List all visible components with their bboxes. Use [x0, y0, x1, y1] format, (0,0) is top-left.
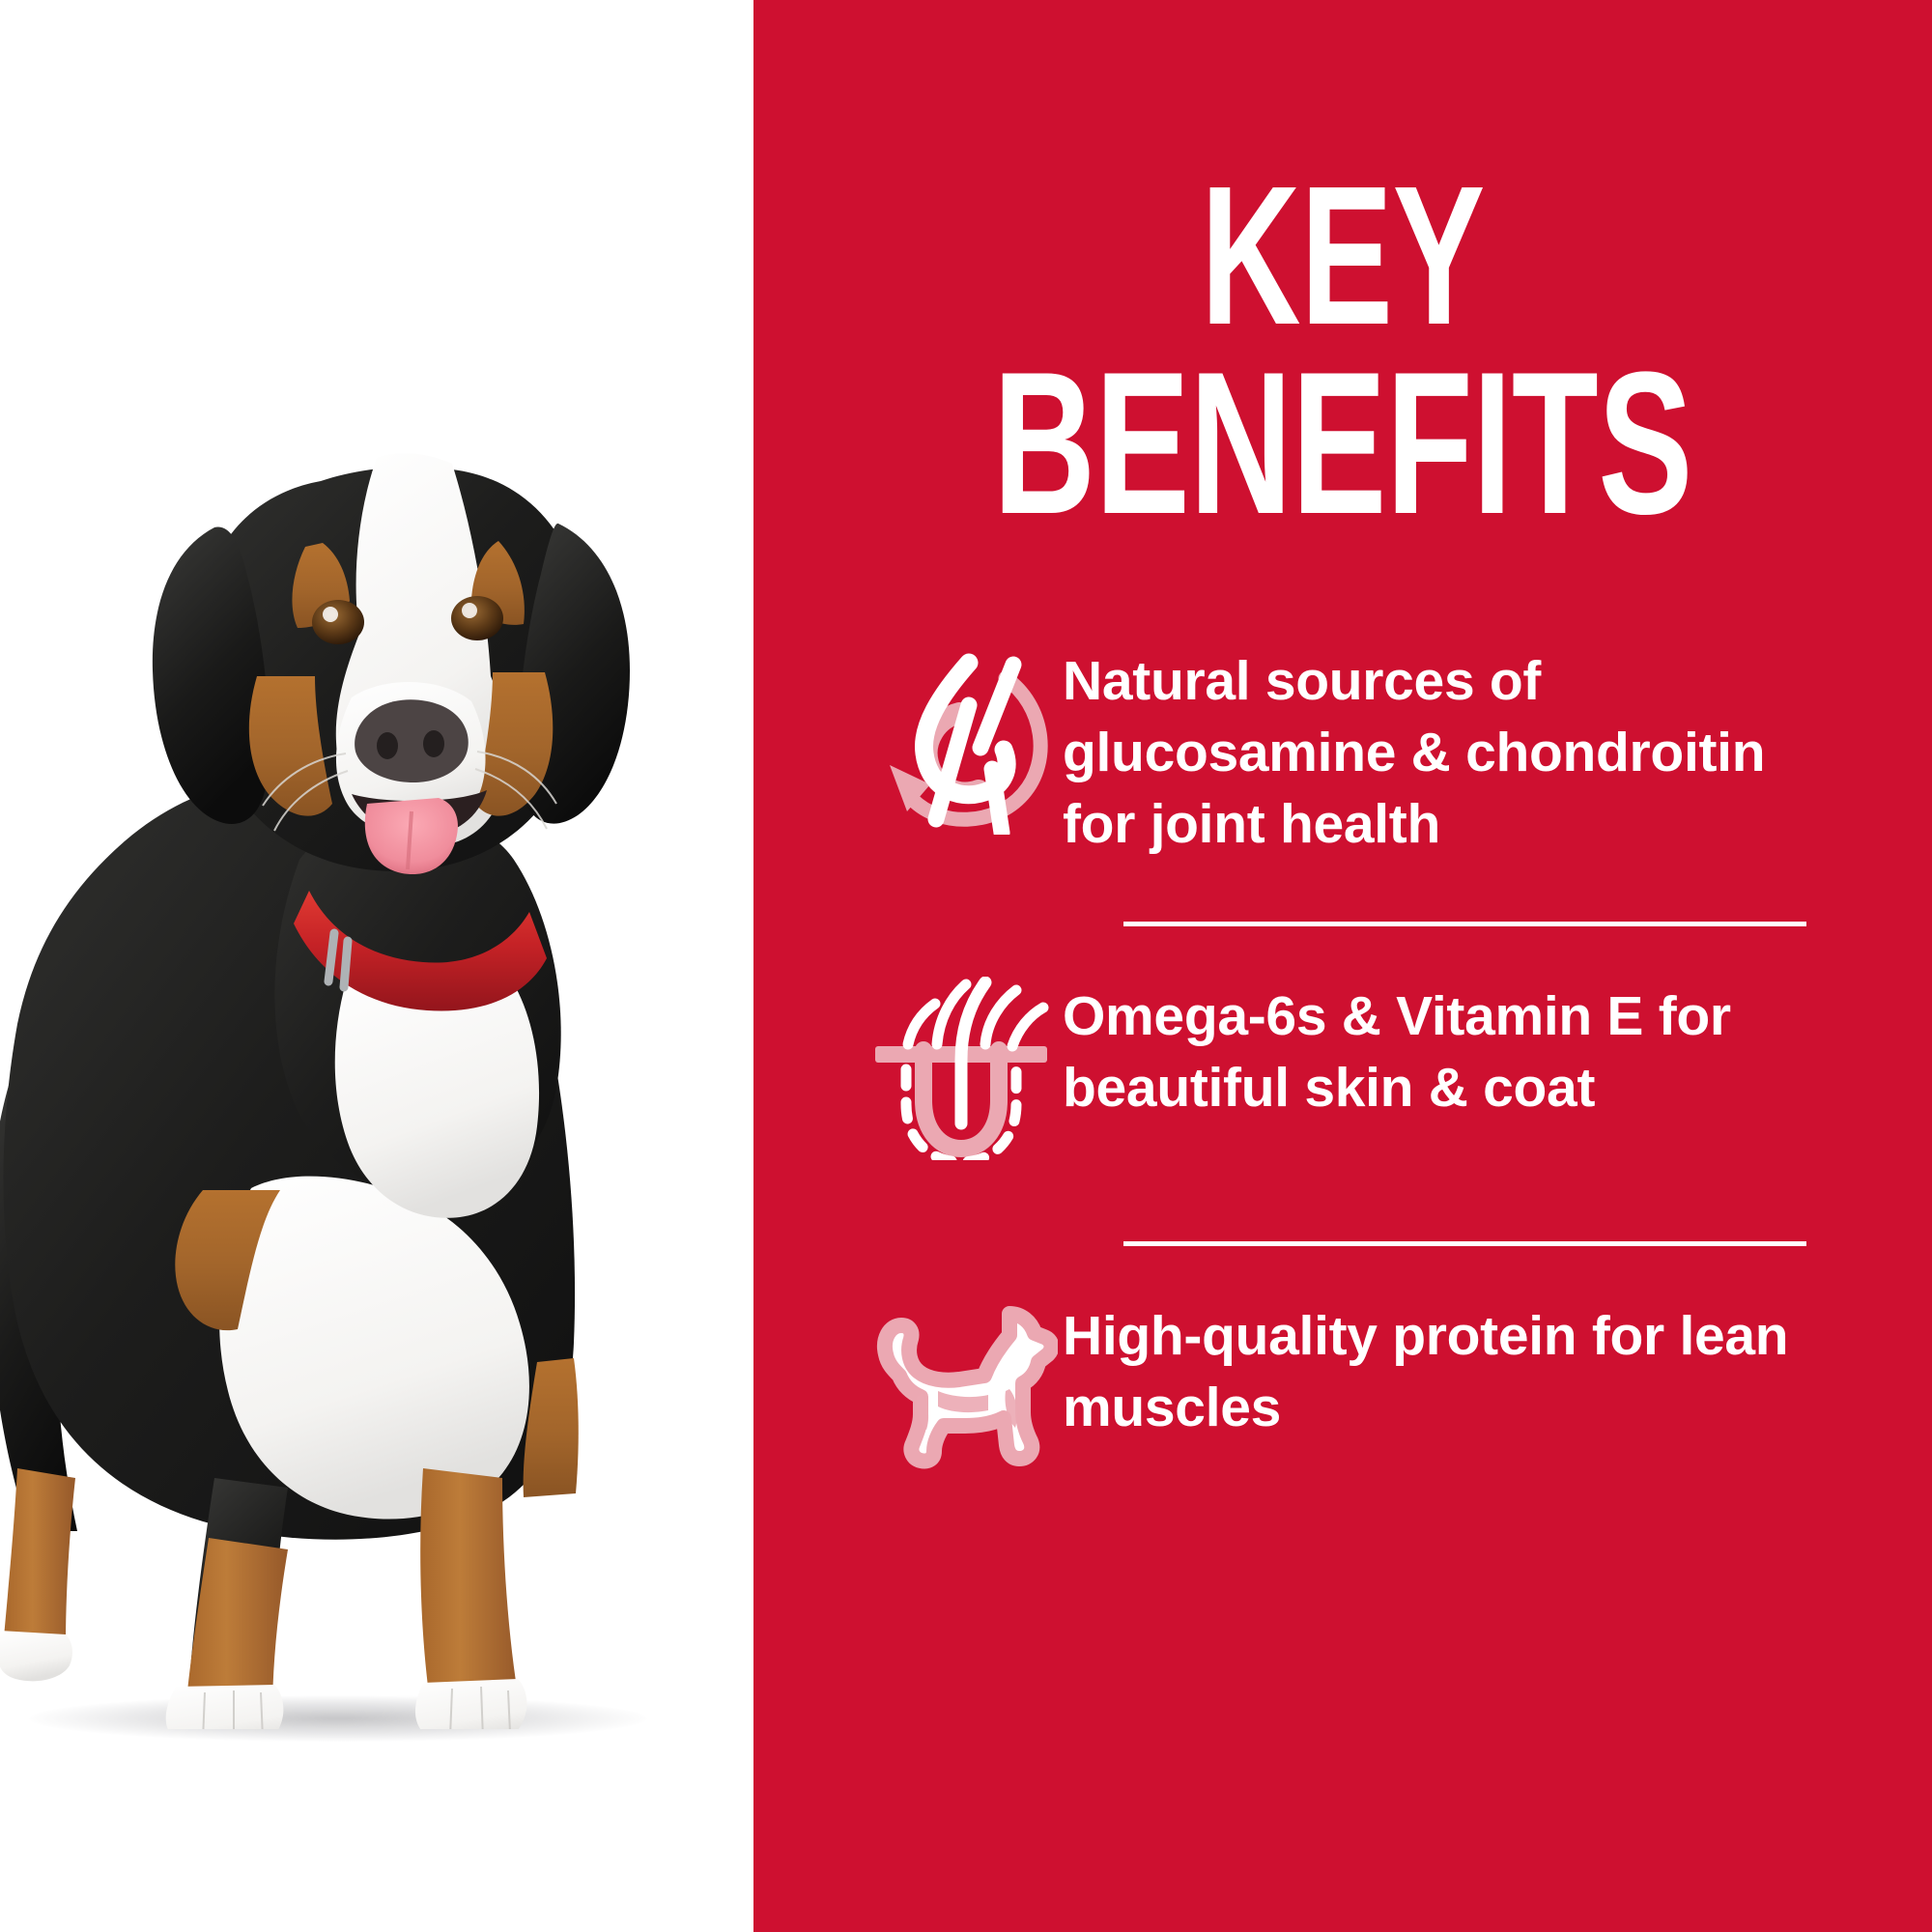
dog-photo-panel	[0, 0, 753, 1932]
benefit-item-skin-coat: Omega-6s & Vitamin E for beautiful skin …	[753, 926, 1932, 1208]
title-line-benefits: BENEFITS	[930, 349, 1755, 537]
dog-eye-right	[451, 596, 503, 640]
page-title: KEY BENEFITS	[753, 164, 1932, 537]
benefit-item-lean-muscles: High-quality protein for lean muscles	[753, 1246, 1932, 1499]
dog-nose	[355, 699, 469, 782]
hair-follicle-icon	[860, 973, 1063, 1179]
title-line-key: KEY	[930, 164, 1755, 349]
benefits-list: Natural sources of glucosamine & chondro…	[753, 638, 1932, 1499]
benefit-text-joint-health: Natural sources of glucosamine & chondro…	[1063, 638, 1806, 860]
dog-photo	[0, 357, 753, 1729]
dog-silhouette-icon	[860, 1293, 1063, 1499]
dog-eye-left	[312, 600, 364, 644]
benefit-text-skin-coat: Omega-6s & Vitamin E for beautiful skin …	[1063, 973, 1806, 1123]
benefits-red-panel: KEY BENEFITS	[753, 0, 1932, 1932]
key-benefits-panel: KEY BENEFITS	[0, 0, 1932, 1932]
benefit-text-lean-muscles: High-quality protein for lean muscles	[1063, 1293, 1806, 1443]
dog-paw-left	[166, 1685, 284, 1729]
dog-front-leg-right	[420, 1468, 520, 1708]
benefit-item-joint-health: Natural sources of glucosamine & chondro…	[753, 638, 1932, 889]
joint-rotation-icon	[860, 638, 1063, 844]
